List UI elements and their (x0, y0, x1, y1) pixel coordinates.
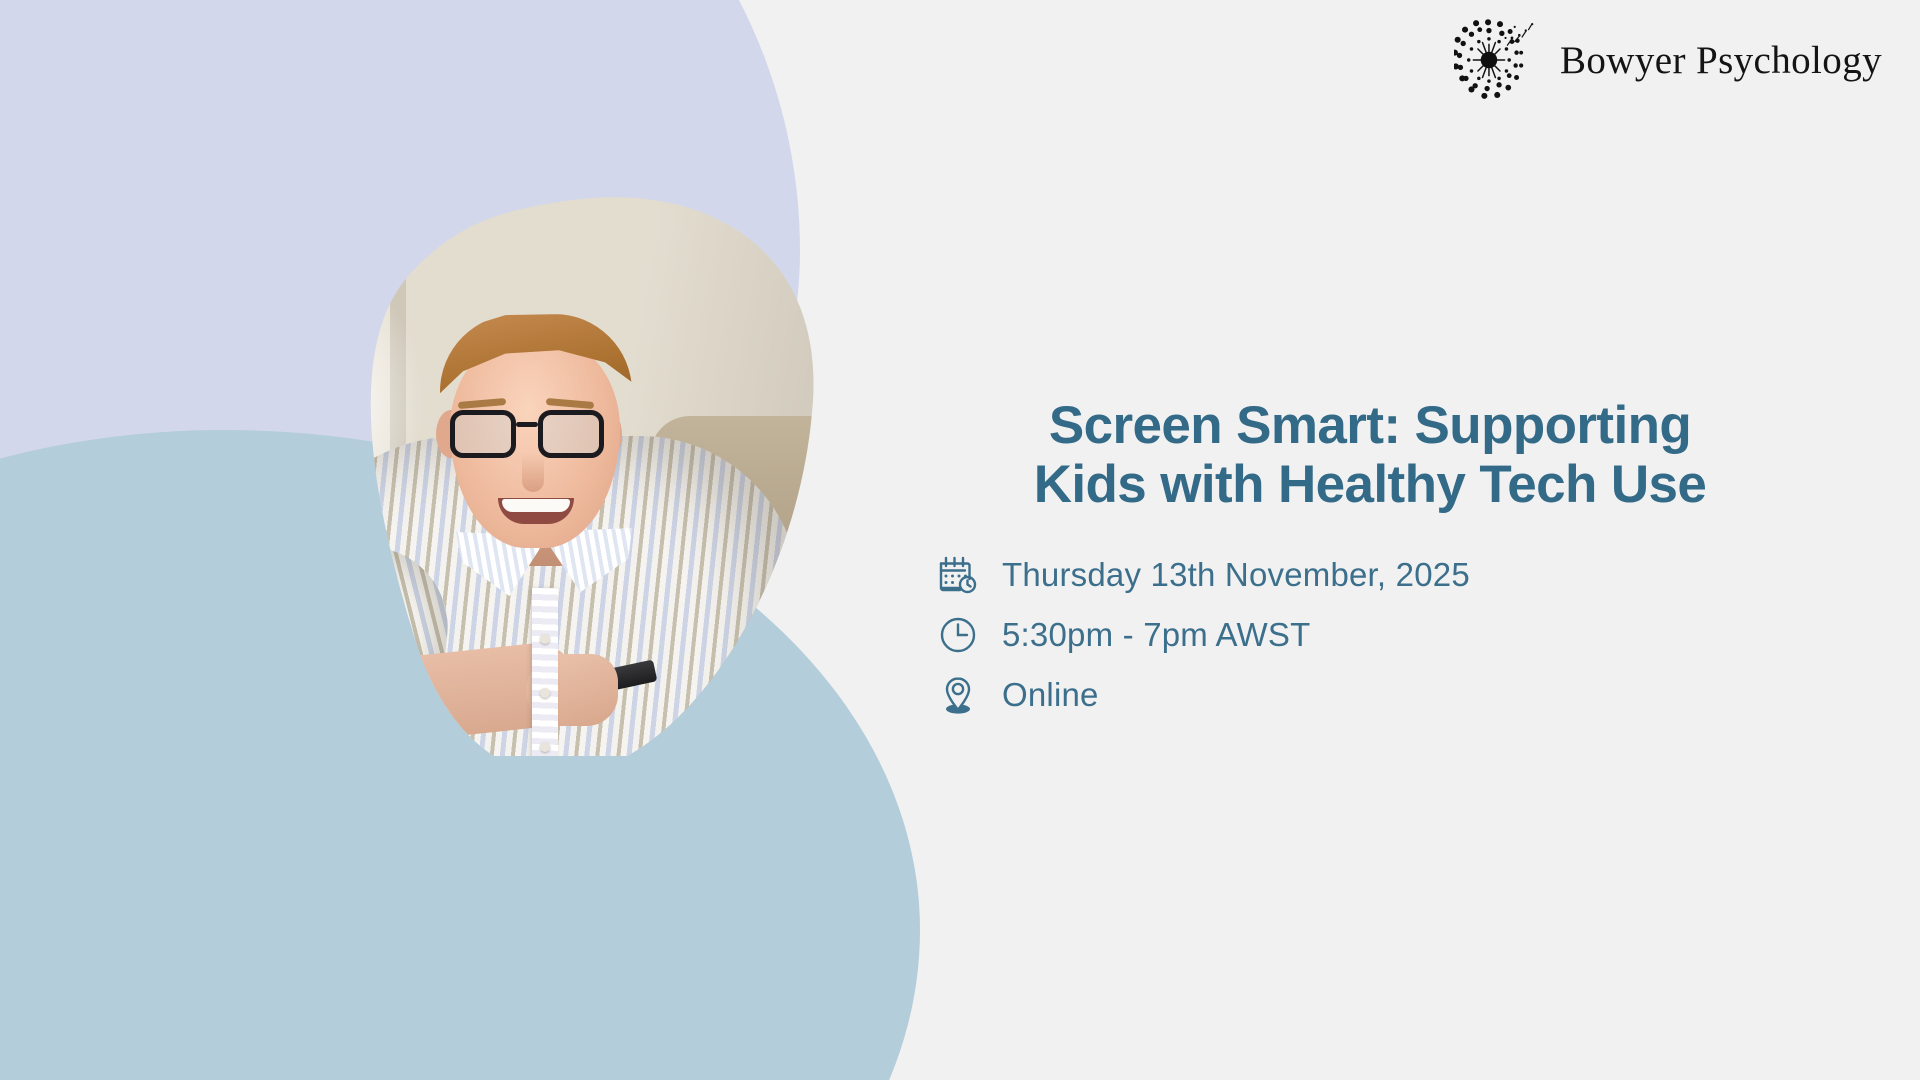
shirt-button (540, 742, 550, 752)
event-location-row: Online (936, 673, 1900, 717)
lens-right (538, 410, 604, 458)
map-pin-icon (936, 673, 980, 717)
event-location-text: Online (1002, 676, 1099, 714)
rolled-cuff (274, 606, 406, 699)
brand-logo: Bowyer Psychology (1454, 14, 1882, 106)
logo-text: Bowyer Psychology (1560, 38, 1882, 83)
headline-line-1: Screen Smart: Supporting (1049, 396, 1691, 455)
presenter-portrait (240, 196, 820, 756)
event-flyer: Bowyer Psychology Screen Smart: Supporti… (0, 0, 1920, 1080)
shirt-placket (532, 588, 558, 756)
event-content: Screen Smart: Supporting Kids with Healt… (840, 396, 1900, 717)
calendar-clock-icon (936, 553, 980, 597)
shirt-button (540, 634, 550, 644)
glasses-bridge (516, 422, 538, 427)
lens-left (450, 410, 516, 458)
shirt-button (540, 688, 550, 698)
teeth (502, 499, 570, 512)
event-details-list: Thursday 13th November, 2025 5:30pm - 7p… (936, 553, 1900, 717)
nose (522, 454, 544, 492)
portrait-photo (240, 196, 820, 756)
dandelion-dot-burst-logo-mark (1454, 14, 1546, 106)
event-time-text: 5:30pm - 7pm AWST (1002, 616, 1310, 654)
event-date-row: Thursday 13th November, 2025 (936, 553, 1900, 597)
clock-icon (936, 613, 980, 657)
headline-line-2: Kids with Healthy Tech Use (1034, 455, 1707, 514)
portrait-organic-clip (240, 196, 820, 756)
event-time-row: 5:30pm - 7pm AWST (936, 613, 1900, 657)
eyeglasses (446, 410, 626, 460)
event-date-text: Thursday 13th November, 2025 (1002, 556, 1470, 594)
page-title: Screen Smart: Supporting Kids with Healt… (840, 396, 1900, 515)
